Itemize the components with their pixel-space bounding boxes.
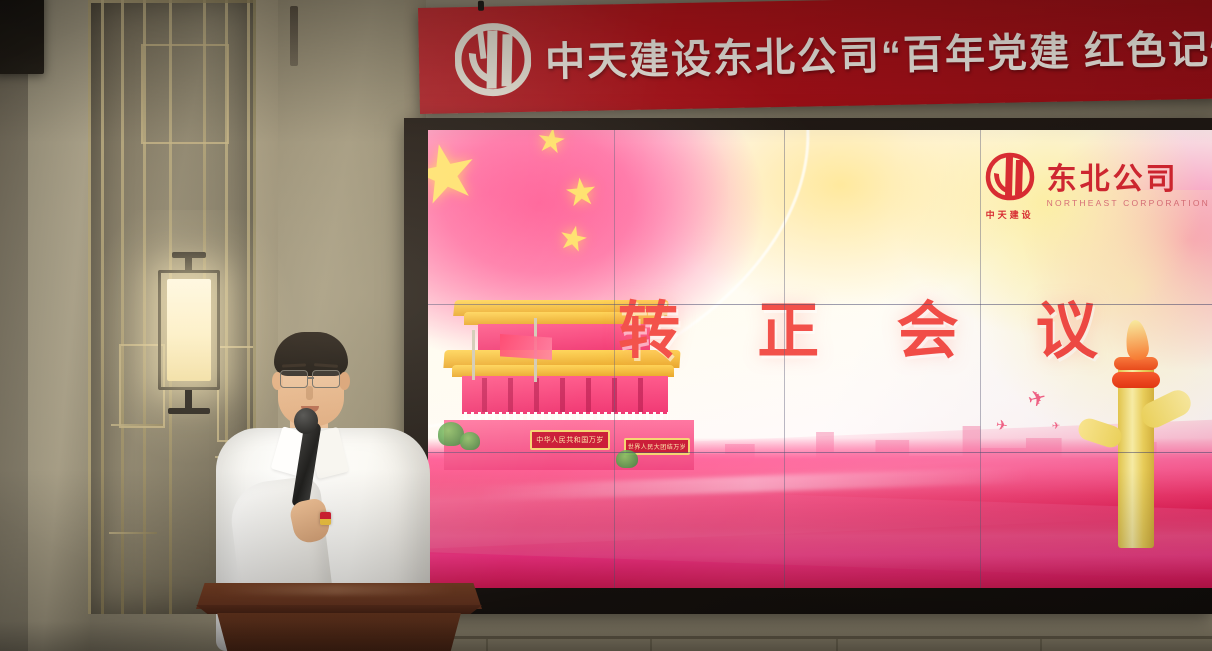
bottom-shade [0,621,1212,651]
conference-hall-photo: 中天建设东北公司“百年党建 红色记忆”党日活动 ★ ★ ★ ★ [0,0,1212,651]
scene-vignette [0,0,1212,651]
